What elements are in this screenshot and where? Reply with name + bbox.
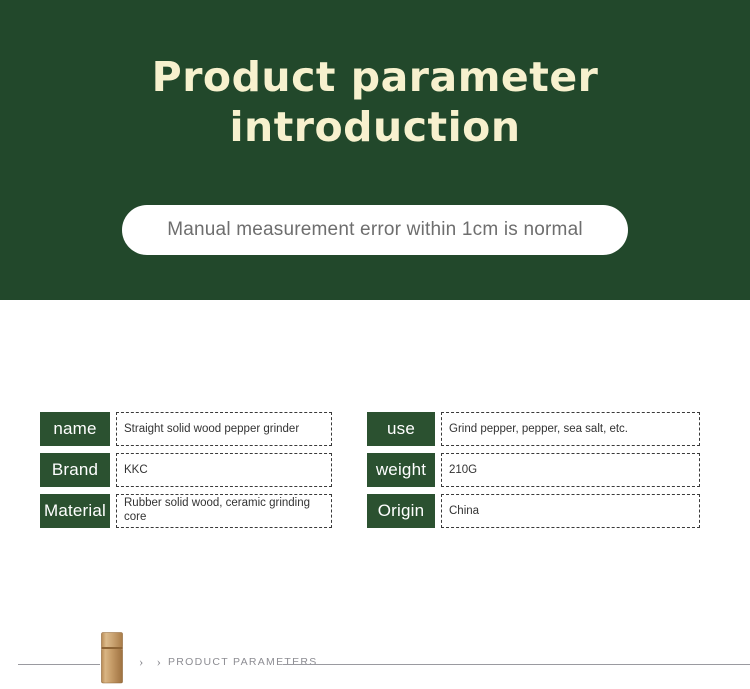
chevron-right-icon: › › <box>139 655 166 668</box>
param-key-weight: weight <box>367 453 435 487</box>
measurement-note-pill: Manual measurement error within 1cm is n… <box>122 205 628 255</box>
param-key-brand: Brand <box>40 453 110 487</box>
hero-banner: Product parameter introduction Manual me… <box>0 0 750 300</box>
param-value-weight: 210G <box>441 453 700 487</box>
table-row: name Straight solid wood pepper grinder <box>40 412 332 446</box>
measurement-note-text: Manual measurement error within 1cm is n… <box>167 219 583 241</box>
wood-pepper-grinder-icon <box>100 632 124 684</box>
param-value-brand: KKC <box>116 453 332 487</box>
table-row: weight 210G <box>367 453 700 487</box>
page-title: Product parameter introduction <box>0 52 750 152</box>
param-value-material: Rubber solid wood, ceramic grinding core <box>116 494 332 528</box>
table-row: use Grind pepper, pepper, sea salt, etc. <box>367 412 700 446</box>
param-value-origin: China <box>441 494 700 528</box>
table-row: Material Rubber solid wood, ceramic grin… <box>40 494 332 528</box>
param-key-use: use <box>367 412 435 446</box>
section-title: PRODUCT PARAMETERS <box>168 657 318 668</box>
parameter-column-right: use Grind pepper, pepper, sea salt, etc.… <box>367 412 700 535</box>
section-header: › › PRODUCT PARAMETERS <box>0 300 750 400</box>
page-title-line-2: introduction <box>0 102 750 152</box>
param-key-material: Material <box>40 494 110 528</box>
table-row: Origin China <box>367 494 700 528</box>
divider-line-left <box>18 664 100 665</box>
parameter-column-left: name Straight solid wood pepper grinder … <box>40 412 332 535</box>
table-row: Brand KKC <box>40 453 332 487</box>
param-value-use: Grind pepper, pepper, sea salt, etc. <box>441 412 700 446</box>
param-key-name: name <box>40 412 110 446</box>
param-key-origin: Origin <box>367 494 435 528</box>
page-title-line-1: Product parameter <box>152 53 599 101</box>
product-parameter-page: { "hero": { "title_line1": "Product para… <box>0 0 750 547</box>
param-value-name: Straight solid wood pepper grinder <box>116 412 332 446</box>
divider-line-right <box>283 664 750 665</box>
